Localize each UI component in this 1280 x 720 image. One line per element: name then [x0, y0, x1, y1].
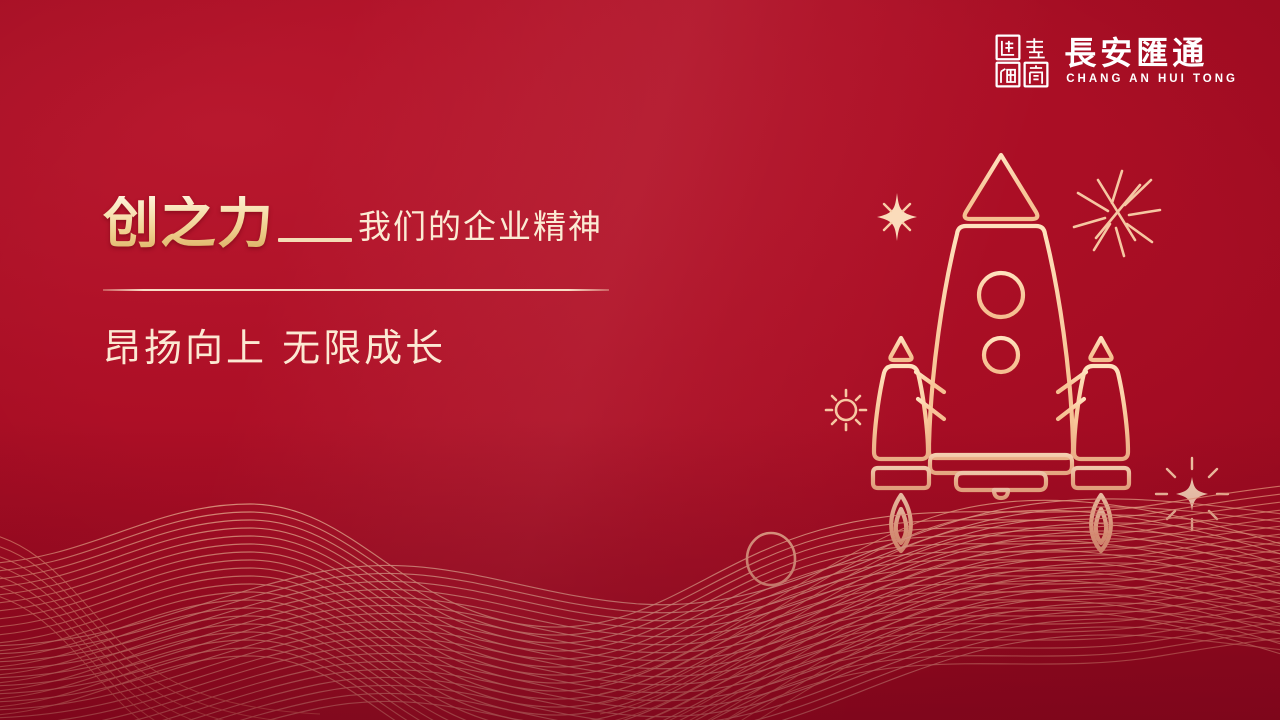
page-subtitle: 我们的企业精神: [358, 210, 603, 243]
headline-block: 创之力 我们的企业精神 昂扬向上 无限成长: [103, 196, 743, 367]
tagline-text: 昂扬向上 无限成长: [103, 329, 743, 367]
seal-stamp-icon: [994, 33, 1050, 89]
logo-company-en: CHANG AN HUI TONG: [1064, 73, 1238, 85]
brand-logo[interactable]: 長安匯通 CHANG AN HUI TONG: [994, 33, 1238, 89]
logo-text-group: 長安匯通 CHANG AN HUI TONG: [1064, 37, 1238, 85]
page-title: 创之力: [103, 196, 274, 252]
logo-company-cn: 長安匯通: [1064, 37, 1238, 71]
divider-rule: [103, 289, 609, 291]
slide-root: 長安匯通 CHANG AN HUI TONG 创之力 我们的企业精神 昂扬向上 …: [0, 0, 1280, 720]
title-row: 创之力 我们的企业精神: [103, 196, 743, 252]
title-dash-icon: [278, 238, 352, 242]
